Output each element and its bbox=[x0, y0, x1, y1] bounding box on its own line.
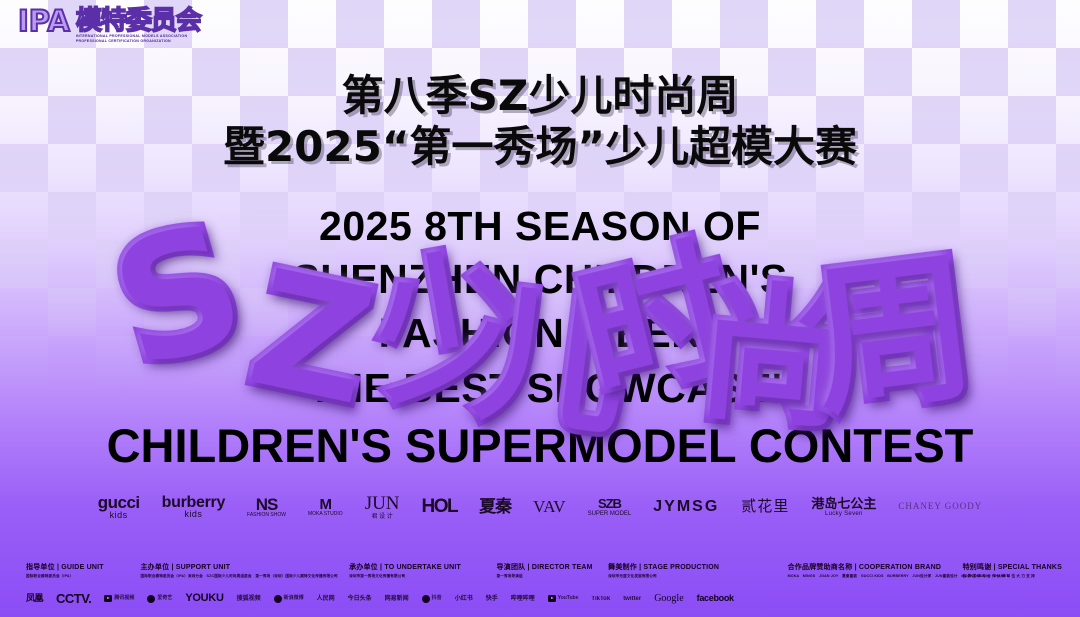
credit-column: 指导单位 | GUIDE UNIT国际职业模特委员会（IPA） bbox=[26, 563, 140, 579]
media-logo-label: 凤凰 bbox=[26, 594, 43, 603]
brand-logo: SZBSUPER MODEL bbox=[588, 497, 632, 517]
media-logo: CCTV. bbox=[56, 592, 91, 605]
brand-subtitle: Lucky Seven bbox=[811, 511, 876, 517]
media-logo: 新浪微博 bbox=[274, 595, 304, 603]
brand-name: SZB bbox=[588, 497, 632, 511]
brand-name: 夏秦 bbox=[479, 498, 511, 516]
media-logo: 搜狐视频 bbox=[237, 596, 261, 602]
credit-title: 导演团队 | DIRECTOR TEAM bbox=[497, 563, 609, 572]
credit-body: 第一秀场导演组 bbox=[497, 574, 609, 579]
media-logo-label: YouTube bbox=[558, 596, 579, 601]
dot-icon bbox=[147, 595, 155, 603]
brand-name: M bbox=[308, 497, 343, 513]
credit-body: 深圳市第一秀场文化传播有限公司 bbox=[349, 574, 496, 579]
ipa-logo: IPA 模特委员会 INTERNATIONAL PROFESSIONAL MOD… bbox=[18, 8, 201, 44]
credit-title-cn: 承办单位 bbox=[349, 564, 378, 571]
brand-name: 贰花里 bbox=[741, 499, 789, 515]
brand-name: CHANEY GOODY bbox=[898, 502, 982, 511]
brand-logo: MMOKA STUDIO bbox=[308, 497, 343, 518]
media-logo-label: YOUKU bbox=[185, 593, 223, 604]
english-line-4: 'THE BEST SHOWCASE' bbox=[0, 362, 1080, 415]
media-logo-label: 小红书 bbox=[455, 596, 473, 602]
media-logo: TikTok bbox=[591, 596, 610, 602]
media-logo-label: 哔哩哔哩 bbox=[511, 596, 535, 602]
media-logo: 快手 bbox=[486, 596, 498, 602]
media-logo-label: 搜狐视频 bbox=[237, 596, 261, 602]
brand-logo: 夏秦 bbox=[479, 498, 511, 516]
media-logo-label: 今日头条 bbox=[348, 596, 372, 602]
media-partner-strip: 凤凰CCTV.腾讯视频爱奇艺YOUKU搜狐视频新浪微博人民网今日头条网易新闻抖音… bbox=[26, 592, 1062, 605]
dot-icon bbox=[422, 595, 430, 603]
credit-title-cn: 主办单位 bbox=[140, 564, 169, 571]
english-line-1: 2025 8TH SEASON OF bbox=[0, 200, 1080, 253]
brand-logo: VAV bbox=[533, 498, 565, 516]
brand-name: JUN bbox=[365, 494, 400, 514]
credit-title-cn: 舞美制作 bbox=[608, 564, 637, 571]
media-logo: 腾讯视频 bbox=[104, 595, 134, 602]
play-icon bbox=[548, 595, 556, 602]
brand-name: JYMSG bbox=[653, 499, 719, 516]
credit-title-cn: 特别鸣谢 bbox=[963, 564, 992, 571]
brand-logo: 贰花里 bbox=[741, 499, 789, 515]
credits-row: 指导单位 | GUIDE UNIT国际职业模特委员会（IPA）主办单位 | SU… bbox=[26, 563, 1062, 579]
media-logo-label: 爱奇艺 bbox=[157, 596, 172, 601]
brand-logo-row: guccikidsburberrykidsNSFASHION SHOWMMOKA… bbox=[0, 494, 1080, 520]
media-logo: 人民网 bbox=[317, 596, 335, 602]
credit-title: 指导单位 | GUIDE UNIT bbox=[26, 563, 140, 572]
credits-section: 指导单位 | GUIDE UNIT国际职业模特委员会（IPA）主办单位 | SU… bbox=[0, 563, 1080, 617]
media-logo: YouTube bbox=[548, 595, 579, 602]
media-logo: 哔哩哔哩 bbox=[511, 596, 535, 602]
credit-column: 承办单位 | TO UNDERTAKE UNIT深圳市第一秀场文化传播有限公司 bbox=[349, 563, 496, 579]
credit-title-en: STAGE PRODUCTION bbox=[643, 564, 719, 571]
credit-title: 主办单位 | SUPPORT UNIT bbox=[140, 563, 349, 572]
media-logo: 爱奇艺 bbox=[147, 595, 172, 603]
media-logo: 小红书 bbox=[455, 596, 473, 602]
ipa-logo-english-line2: PROFESSIONAL CERTIFICATION ORGANIZATION bbox=[76, 39, 201, 44]
media-logo-label: 网易新闻 bbox=[385, 596, 409, 602]
dot-icon bbox=[274, 595, 282, 603]
credit-column: 特别鸣谢 | SPECIAL THANKS各 界 媒 体 与 合 作 伙 伴 单… bbox=[963, 563, 1062, 579]
brand-logo: guccikids bbox=[98, 494, 140, 520]
credit-title-en: SUPPORT UNIT bbox=[176, 564, 231, 571]
credit-title-en: DIRECTOR TEAM bbox=[532, 564, 593, 571]
ipa-logo-chinese: 模特委员会 bbox=[76, 8, 201, 34]
credit-title-en: TO UNDERTAKE UNIT bbox=[384, 564, 461, 571]
media-logo: 今日头条 bbox=[348, 596, 372, 602]
credit-title-cn: 导演团队 bbox=[497, 564, 526, 571]
brand-subtitle: kids bbox=[162, 510, 225, 519]
credit-body: MOKA MINGS JOAN JOY 夏秦童装 GUCCI KIDS BURB… bbox=[788, 574, 963, 579]
brand-logo: 港岛七公主Lucky Seven bbox=[811, 497, 876, 517]
brand-name: 港岛七公主 bbox=[811, 497, 876, 511]
media-logo-label: twitter bbox=[623, 596, 641, 602]
english-line-2: SHENZHEN CHILDREN'S bbox=[0, 253, 1080, 306]
credit-body: 深圳市元度文化发展有限公司 bbox=[608, 574, 787, 579]
brand-subtitle: 君 设 计 bbox=[365, 514, 400, 520]
media-logo-label: 新浪微博 bbox=[284, 596, 304, 601]
brand-subtitle: MOKA STUDIO bbox=[308, 512, 343, 517]
brand-logo: JYMSG bbox=[653, 499, 719, 516]
media-logo: 凤凰 bbox=[26, 594, 43, 603]
english-subtitle-block: 2025 8TH SEASON OF SHENZHEN CHILDREN'S F… bbox=[0, 200, 1080, 476]
credit-column: 主办单位 | SUPPORT UNIT国际职业模特委员会（IPA）深圳分会 SZ… bbox=[140, 563, 349, 579]
credit-body: 国际职业模特委员会（IPA）深圳分会 SZC国际少儿时尚周组委会 第一秀场（深圳… bbox=[140, 574, 349, 579]
credit-title: 特别鸣谢 | SPECIAL THANKS bbox=[963, 563, 1062, 572]
brand-logo: JUN君 设 计 bbox=[365, 494, 400, 520]
brand-subtitle: kids bbox=[98, 511, 140, 520]
credit-title-en: COOPERATION BRAND bbox=[859, 564, 941, 571]
credit-title: 舞美制作 | STAGE PRODUCTION bbox=[608, 563, 787, 572]
media-logo-label: CCTV. bbox=[56, 592, 91, 605]
ipa-logo-text: 模特委员会 INTERNATIONAL PROFESSIONAL MODELS … bbox=[76, 8, 201, 44]
credit-title-en: GUIDE UNIT bbox=[61, 564, 103, 571]
play-icon bbox=[104, 595, 112, 602]
ipa-logo-mark: IPA bbox=[18, 8, 70, 36]
credit-column: 合作品牌赞助商名称 | COOPERATION BRANDMOKA MINGS … bbox=[788, 563, 963, 579]
brand-subtitle: FASHION SHOW bbox=[247, 513, 286, 518]
brand-name: HOL bbox=[422, 497, 458, 517]
brand-logo: NSFASHION SHOW bbox=[247, 496, 286, 519]
media-logo-label: facebook bbox=[697, 594, 734, 603]
credit-column: 导演团队 | DIRECTOR TEAM第一秀场导演组 bbox=[497, 563, 609, 579]
headline-line-1: 第八季SZ少儿时尚周 bbox=[0, 74, 1080, 119]
media-logo: facebook bbox=[697, 594, 734, 603]
poster-canvas: IPA 模特委员会 INTERNATIONAL PROFESSIONAL MOD… bbox=[0, 0, 1080, 617]
credit-title-cn: 合作品牌赞助商名称 bbox=[788, 564, 853, 571]
media-logo-label: 抖音 bbox=[432, 596, 442, 601]
credit-body: 各 界 媒 体 与 合 作 伙 伴 单 位 大 力 支 持 bbox=[963, 574, 1062, 579]
english-line-5: CHILDREN'S SUPERMODEL CONTEST bbox=[0, 415, 1080, 476]
brand-logo: CHANEY GOODY bbox=[898, 502, 982, 511]
brand-logo: burberrykids bbox=[162, 495, 225, 520]
page-title: 第八季SZ少儿时尚周 暨2025“第一秀场”少儿超模大赛 bbox=[0, 74, 1080, 169]
brand-subtitle: SUPER MODEL bbox=[588, 511, 632, 517]
media-logo: 抖音 bbox=[422, 595, 442, 603]
credit-title: 合作品牌赞助商名称 | COOPERATION BRAND bbox=[788, 563, 963, 572]
credit-body: 国际职业模特委员会（IPA） bbox=[26, 574, 140, 579]
credit-title-en: SPECIAL THANKS bbox=[998, 564, 1062, 571]
credit-title-cn: 指导单位 bbox=[26, 564, 55, 571]
brand-logo: HOL bbox=[422, 497, 458, 517]
media-logo-label: TikTok bbox=[591, 596, 610, 602]
credit-column: 舞美制作 | STAGE PRODUCTION深圳市元度文化发展有限公司 bbox=[608, 563, 787, 579]
media-logo-label: 人民网 bbox=[317, 596, 335, 602]
media-logo: YOUKU bbox=[185, 593, 223, 604]
headline-line-2: 暨2025“第一秀场”少儿超模大赛 bbox=[0, 125, 1080, 170]
media-logo-label: 快手 bbox=[486, 596, 498, 602]
media-logo: twitter bbox=[623, 596, 641, 602]
brand-name: VAV bbox=[533, 498, 565, 516]
brand-name: NS bbox=[247, 496, 286, 514]
media-logo-label: 腾讯视频 bbox=[114, 596, 134, 601]
credit-title: 承办单位 | TO UNDERTAKE UNIT bbox=[349, 563, 496, 572]
english-line-3: FASHION WEEK bbox=[0, 307, 1080, 360]
media-logo: Google bbox=[654, 594, 683, 604]
media-logo: 网易新闻 bbox=[385, 596, 409, 602]
media-logo-label: Google bbox=[654, 594, 683, 604]
